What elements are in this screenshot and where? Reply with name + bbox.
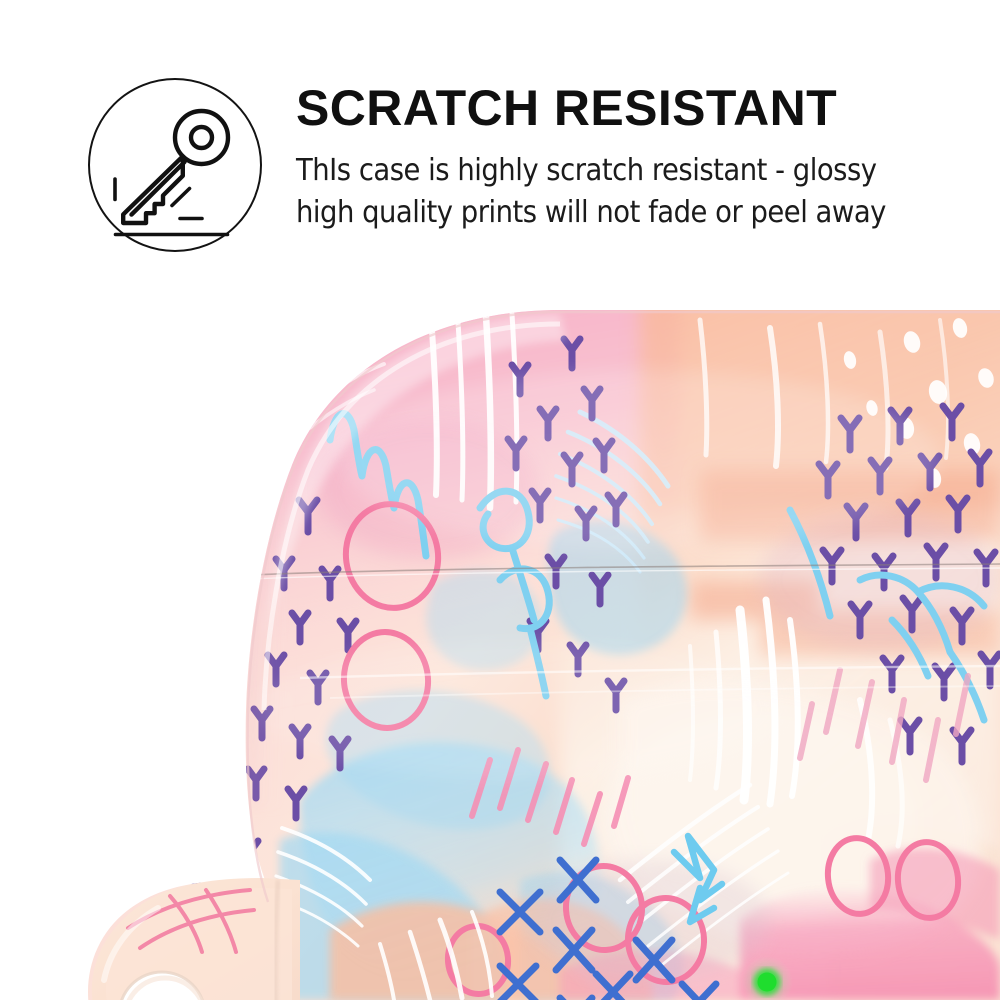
page-title: SCRATCH RESISTANT [296,80,956,136]
product-feature-page: SCRATCH RESISTANT ThIs case is highly sc… [0,0,1000,1000]
feature-description-line-2: high quality prints will not fade or pee… [296,192,890,234]
key-scratch-icon [88,78,262,252]
feature-description-line-1: ThIs case is highly scratch resistant - … [296,150,890,192]
case-artwork [0,280,1000,1000]
feature-header: SCRATCH RESISTANT ThIs case is highly sc… [0,0,1000,290]
product-image [0,280,1000,1000]
keychain-loop [92,878,300,1000]
feature-text-group: SCRATCH RESISTANT ThIs case is highly sc… [296,80,956,234]
airpods-case-illustration [0,280,1000,1000]
